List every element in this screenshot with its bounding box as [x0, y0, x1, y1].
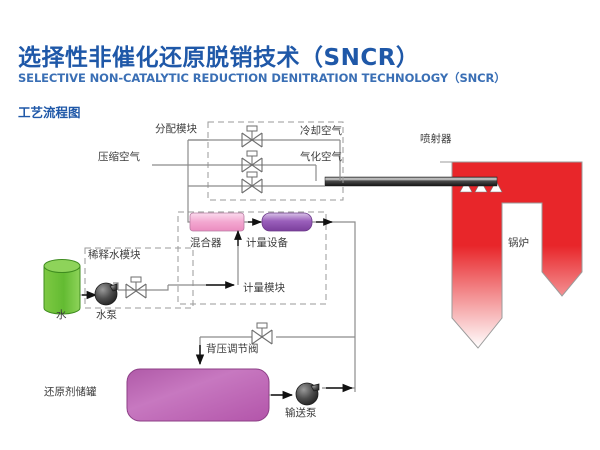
label-water-pump: 水泵: [96, 310, 117, 321]
mixer-vessel: [190, 213, 244, 231]
label-boiler: 锅炉: [508, 238, 529, 249]
label-metering-device: 计量设备: [246, 238, 288, 249]
valve-gasification-air: [242, 151, 262, 172]
label-metering-module: 计量模块: [243, 283, 285, 294]
injector-lance: [325, 177, 497, 186]
pipe-meter-outlet: [312, 222, 355, 392]
boiler-group: [440, 162, 582, 348]
metering-device-vessel: [262, 213, 312, 231]
valve-dilution-water: [126, 277, 146, 298]
label-gasification-air: 气化空气: [300, 152, 342, 163]
label-injector: 喷射器: [420, 134, 452, 145]
valve-cooling-air: [242, 126, 262, 147]
label-dilution-water-module: 稀释水模块: [88, 250, 141, 261]
reductant-storage-tank: [127, 369, 269, 421]
water-tank: [44, 260, 80, 315]
label-distribution-module: 分配模块: [155, 124, 197, 135]
label-cooling-air: 冷却空气: [300, 126, 342, 137]
transfer-pump: [296, 383, 319, 405]
label-mixer: 混合器: [190, 238, 222, 249]
label-compressed-air: 压缩空气: [98, 152, 140, 163]
screenshot-root: 选择性非催化还原脱销技术（SNCR） SELECTIVE NON-CATALYT…: [0, 0, 600, 450]
valve-atomizing-air: [242, 172, 262, 193]
water-pump: [95, 283, 117, 305]
label-back-pressure-valve: 背压调节阀: [206, 344, 259, 355]
valve-back-pressure: [252, 323, 272, 344]
label-water: 水: [56, 310, 67, 321]
label-transfer-pump: 输送泵: [285, 408, 317, 419]
label-reductant-tank: 还原剂储罐: [44, 387, 97, 398]
process-flow-diagram: [0, 0, 600, 450]
